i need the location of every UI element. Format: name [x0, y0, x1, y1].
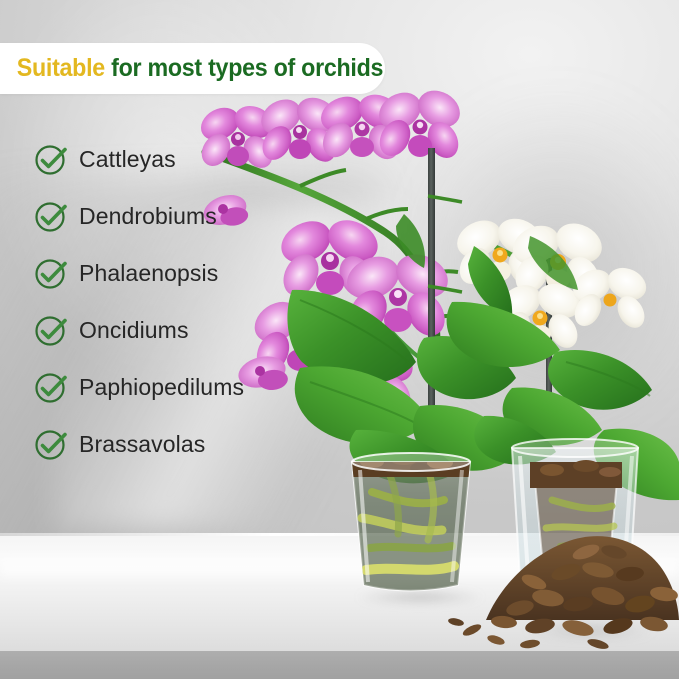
list-item-label: Cattleyas [79, 146, 176, 173]
list-item: Cattleyas [34, 138, 244, 180]
product-infographic: Suitable for most types of orchids Cattl… [0, 0, 679, 679]
check-circle-icon [34, 256, 68, 290]
check-circle-icon [34, 142, 68, 176]
check-circle-icon [34, 199, 68, 233]
list-item-label: Brassavolas [79, 431, 205, 458]
headline-banner: Suitable for most types of orchids [0, 43, 385, 94]
table-front-face [0, 651, 679, 679]
list-item: Oncidiums [34, 309, 244, 351]
list-item-label: Phalaenopsis [79, 260, 218, 287]
list-item: Brassavolas [34, 423, 244, 465]
bark-shadow [495, 620, 679, 640]
check-circle-icon [34, 313, 68, 347]
pot-shadow [330, 588, 510, 606]
list-item: Dendrobiums [34, 195, 244, 237]
headline-rest-text: for most types of orchids [105, 54, 383, 82]
orchid-types-list: Cattleyas Dendrobiums Phalaenopsis [34, 138, 244, 480]
check-circle-icon [34, 370, 68, 404]
list-item-label: Dendrobiums [79, 203, 217, 230]
table-edge-highlight [0, 533, 679, 536]
headline-text: Suitable for most types of orchids [0, 54, 383, 83]
list-item-label: Paphiopedilums [79, 374, 244, 401]
list-item-label: Oncidiums [79, 317, 189, 344]
list-item: Paphiopedilums [34, 366, 244, 408]
headline-highlight-word: Suitable [17, 54, 105, 82]
check-circle-icon [34, 427, 68, 461]
table-reflection [0, 556, 679, 582]
list-item: Phalaenopsis [34, 252, 244, 294]
